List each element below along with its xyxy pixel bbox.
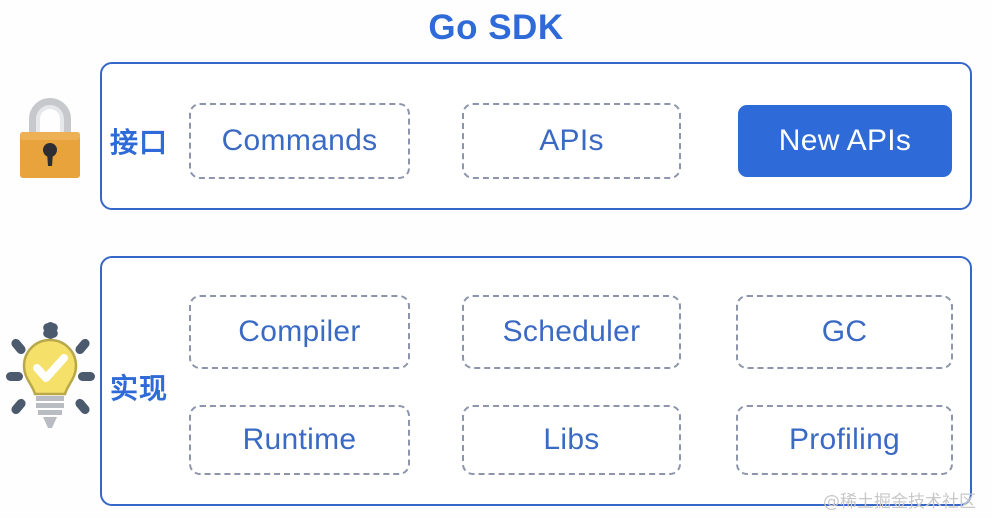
watermark-text: @稀土掘金技术社区 <box>823 487 976 512</box>
layer-label-interface: 接口 <box>110 121 168 161</box>
lightbulb-check-icon <box>2 318 98 444</box>
item-box-compiler[interactable]: Compiler <box>189 295 410 369</box>
layer-label-implementation: 实现 <box>110 367 168 407</box>
item-box-commands[interactable]: Commands <box>189 103 410 179</box>
item-box-libs[interactable]: Libs <box>462 405 681 475</box>
item-box-apis[interactable]: APIs <box>462 103 681 179</box>
item-box-profiling[interactable]: Profiling <box>736 405 953 475</box>
item-box-runtime[interactable]: Runtime <box>189 405 410 475</box>
item-box-scheduler[interactable]: Scheduler <box>462 295 681 369</box>
page-title: Go SDK <box>0 6 992 50</box>
item-box-new-apis[interactable]: New APIs <box>738 105 952 177</box>
item-box-gc[interactable]: GC <box>736 295 953 369</box>
lock-icon <box>8 88 92 188</box>
